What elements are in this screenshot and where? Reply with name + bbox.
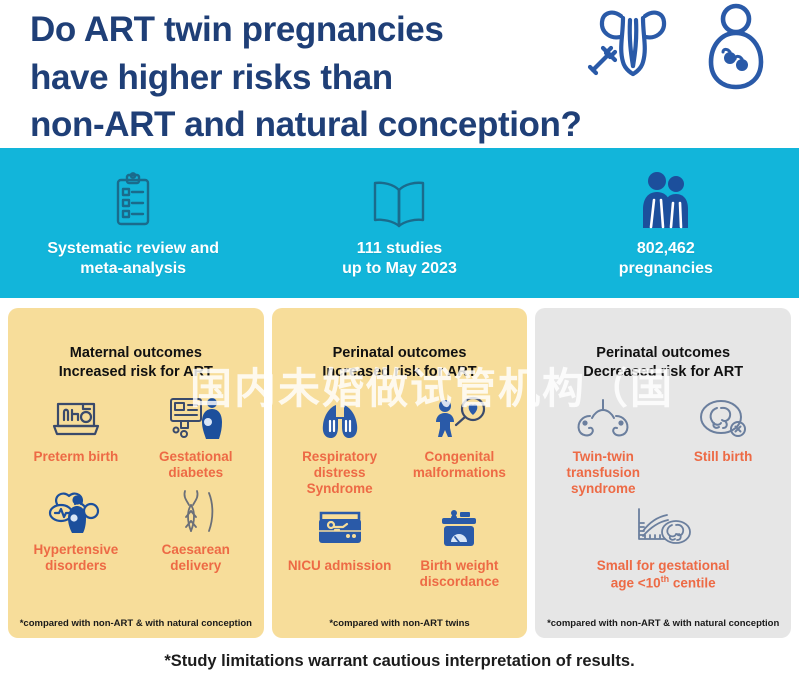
stat-label: 802,462 pregnancies <box>619 239 713 277</box>
outcome-label: Preterm birth <box>34 449 119 465</box>
outcome-item-gestational-diabetes: Gestational diabetes <box>136 388 256 481</box>
outcome-item-caesarean-delivery: Caesarean delivery <box>136 481 256 574</box>
outcome-label-line-2: diabetes <box>159 465 233 481</box>
card-footnote: *compared with non-ART & with natural co… <box>16 618 256 632</box>
outcome-label-line-1: Still birth <box>694 449 753 464</box>
page-title-line-1: Do ART twin pregnancies <box>30 6 620 54</box>
baby-magnifier-heart-icon <box>430 394 488 442</box>
card-perinatal-decreased: Perinatal outcomes Decreased risk for AR… <box>535 308 791 638</box>
outcome-item-birth-weight-discordance: Birth weight discordance <box>400 497 520 590</box>
stat-line-1: 802,462 <box>637 240 695 257</box>
card-footnote: *compared with non-ART twins <box>280 618 520 632</box>
outcome-label-line-1: Hypertensive <box>34 542 119 557</box>
page-title-line-2: have higher risks than <box>30 54 620 102</box>
stat-label: Systematic review and meta-analysis <box>47 239 219 277</box>
outcome-label: Gestational diabetes <box>159 449 233 481</box>
stat-line-2: meta-analysis <box>47 259 219 278</box>
stat-pregnancies-count: 802,462 pregnancies <box>533 168 799 277</box>
stat-line-1: Systematic review and <box>47 240 219 257</box>
card-title-line-1: Perinatal outcomes <box>596 345 730 361</box>
page-title: Do ART twin pregnancies have higher risk… <box>30 6 620 149</box>
card-footnote: *compared with non-ART & with natural co… <box>543 618 783 632</box>
card-maternal-outcomes: Maternal outcomes Increased risk for ART <box>8 308 264 638</box>
outcome-label: Respiratory distress Syndrome <box>282 449 398 497</box>
outcome-label-superscript: th <box>661 574 670 584</box>
outcome-item-twin-twin-transfusion: Twin-twin transfusion syndrome <box>543 388 663 497</box>
incubator-icon <box>50 394 102 442</box>
outcome-label: Small for gestational age <10th centile <box>597 558 730 591</box>
outcome-label: Twin-twin transfusion syndrome <box>567 449 641 497</box>
pregnant-twins-icon <box>705 2 767 97</box>
two-people-icon <box>640 168 692 230</box>
outcome-label-line-1: Small for gestational <box>597 558 730 573</box>
outcome-label-line-1: Congenital <box>425 449 495 464</box>
summary-stats-band: Systematic review and meta-analysis 111 … <box>0 148 799 298</box>
page-title-line-3: non-ART and natural conception? <box>30 101 620 149</box>
card-title-line-2: Increased risk for ART <box>280 363 520 382</box>
card-perinatal-increased: Perinatal outcomes Increased risk for AR… <box>272 308 528 638</box>
open-book-icon <box>370 168 428 230</box>
outcome-label-line-1: Birth weight <box>420 558 498 573</box>
lungs-icon <box>314 394 366 442</box>
footer-text: *Study limitations warrant cautious inte… <box>164 652 634 671</box>
outcome-label-line-2: disorders <box>34 558 119 574</box>
baby-weight-scale-icon <box>434 503 484 551</box>
uterus-syringe-icon <box>587 6 679 89</box>
outcome-item-still-birth: Still birth <box>663 388 783 497</box>
card-title-line-1: Maternal outcomes <box>70 345 202 361</box>
header-icon-group <box>587 2 787 97</box>
outcome-label-line-2: Syndrome <box>282 481 398 497</box>
outcome-item-preterm-birth: Preterm birth <box>16 388 136 481</box>
outcome-label-line-3: syndrome <box>567 481 641 497</box>
stat-line-2: pregnancies <box>619 259 713 278</box>
glucose-monitor-pregnant-icon <box>167 394 225 442</box>
outcome-label: Congenital malformations <box>413 449 506 481</box>
growth-chart-fetus-icon <box>629 503 697 551</box>
card-title-line-2: Increased risk for ART <box>16 363 256 382</box>
outcome-label-line-2: delivery <box>162 558 230 574</box>
card-title: Maternal outcomes Increased risk for ART <box>16 344 256 382</box>
outcome-label-line-2-head: age <10 <box>611 575 661 590</box>
outcome-label-line-1: Preterm birth <box>34 449 119 464</box>
twin-fetuses-icon <box>572 394 634 442</box>
outcome-label-line-1: Respiratory distress <box>302 449 377 480</box>
fetus-cross-icon <box>697 394 749 442</box>
outcome-label-line-1: Gestational <box>159 449 233 464</box>
outcome-label-line-2: transfusion <box>567 465 641 481</box>
stat-systematic-review: Systematic review and meta-analysis <box>0 168 266 277</box>
stat-line-2: up to May 2023 <box>342 259 457 278</box>
card-items-grid: Preterm birth <box>16 388 256 618</box>
outcome-label: Caesarean delivery <box>162 542 230 574</box>
outcome-label: NICU admission <box>288 558 392 574</box>
outcome-label-line-1: Twin-twin <box>573 449 634 464</box>
outcome-label-line-2-tail: centile <box>669 575 716 590</box>
card-items-grid: Respiratory distress Syndrome <box>280 388 520 618</box>
outcome-label: Still birth <box>694 449 753 465</box>
caesarean-scar-icon <box>173 487 219 535</box>
outcome-label: Birth weight discordance <box>420 558 500 590</box>
outcome-cards-row: Maternal outcomes Increased risk for ART <box>0 298 799 638</box>
nicu-cot-icon <box>313 503 367 551</box>
outcome-item-nicu-admission: NICU admission <box>280 497 400 590</box>
card-title-line-2: Decreased risk for ART <box>543 363 783 382</box>
blood-pressure-pregnant-icon <box>47 487 105 535</box>
card-items-grid: Twin-twin transfusion syndrome <box>543 388 783 618</box>
stat-label: 111 studies up to May 2023 <box>342 239 457 277</box>
stat-studies-count: 111 studies up to May 2023 <box>266 168 532 277</box>
outcome-item-hypertensive-disorders: Hypertensive disorders <box>16 481 136 574</box>
outcome-label-line-1: NICU admission <box>288 558 392 573</box>
footer-disclaimer: *Study limitations warrant cautious inte… <box>0 638 799 684</box>
outcome-item-congenital-malformations: Congenital malformations <box>400 388 520 497</box>
outcome-label-line-2: malformations <box>413 465 506 481</box>
outcome-item-respiratory-distress: Respiratory distress Syndrome <box>280 388 400 497</box>
card-title: Perinatal outcomes Decreased risk for AR… <box>543 344 783 382</box>
outcome-label-line-2: discordance <box>420 574 500 590</box>
outcome-label-line-1: Caesarean <box>162 542 230 557</box>
stat-line-1: 111 studies <box>357 240 442 257</box>
outcome-item-small-for-gestational-age: Small for gestational age <10th centile <box>543 497 783 591</box>
outcome-label-line-2: age <10th centile <box>597 574 730 591</box>
outcome-label: Hypertensive disorders <box>34 542 119 574</box>
card-title: Perinatal outcomes Increased risk for AR… <box>280 344 520 382</box>
header-banner: Do ART twin pregnancies have higher risk… <box>0 0 799 148</box>
clipboard-checklist-icon <box>110 168 156 230</box>
card-title-line-1: Perinatal outcomes <box>333 345 467 361</box>
